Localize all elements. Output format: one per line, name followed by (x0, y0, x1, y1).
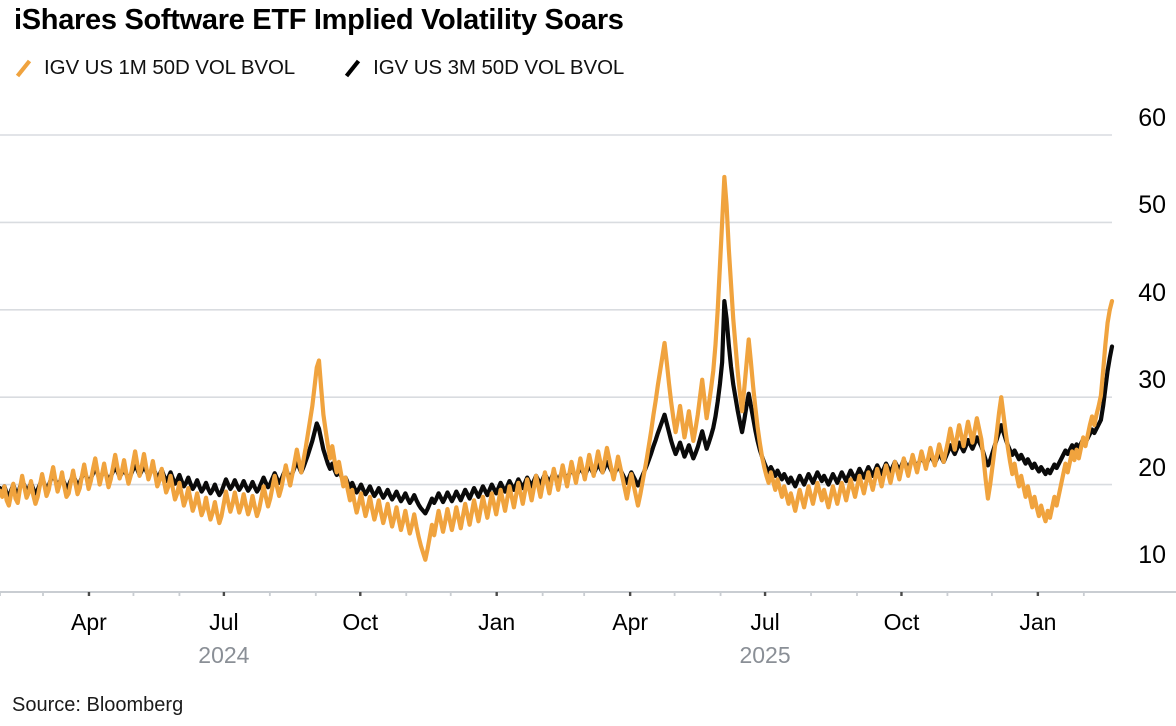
plot-svg (0, 96, 1176, 596)
x-tick-label: Jul (750, 609, 779, 636)
x-tick-label: Jan (478, 609, 515, 636)
slash-icon (14, 58, 33, 79)
x-tick-label: Apr (71, 609, 107, 636)
legend-item-1m: IGV US 1M 50D VOL BVOL (14, 56, 295, 80)
x-tick-label: Apr (612, 609, 648, 636)
chart-figure: iShares Software ETF Implied Volatility … (0, 0, 1176, 726)
y-tick-label: 10 (1138, 543, 1166, 568)
legend-label-3m: IGV US 3M 50D VOL BVOL (373, 56, 624, 80)
chart-legend: IGV US 1M 50D VOL BVOL IGV US 3M 50D VOL… (14, 56, 672, 80)
y-tick-label: 60 (1138, 106, 1166, 131)
y-tick-label: 40 (1138, 281, 1166, 306)
x-tick-label: Oct (884, 609, 920, 636)
x-year-label: 2024 (198, 642, 249, 669)
slash-icon (343, 58, 362, 79)
x-year-label: 2025 (739, 642, 790, 669)
x-tick-label: Jan (1019, 609, 1056, 636)
series-line-1m (0, 177, 1112, 560)
y-tick-label: 30 (1138, 368, 1166, 393)
source-note: Source: Bloomberg (12, 694, 183, 717)
y-tick-label: 20 (1138, 456, 1166, 481)
plot-area (0, 96, 1176, 596)
legend-label-1m: IGV US 1M 50D VOL BVOL (44, 56, 295, 80)
x-tick-label: Oct (342, 609, 378, 636)
gridlines (0, 135, 1112, 572)
x-axis (0, 592, 1176, 596)
legend-item-3m: IGV US 3M 50D VOL BVOL (343, 56, 624, 80)
y-tick-label: 50 (1138, 193, 1166, 218)
page-title: iShares Software ETF Implied Volatility … (14, 4, 624, 37)
series-lines (0, 177, 1112, 560)
x-tick-label: Jul (209, 609, 238, 636)
